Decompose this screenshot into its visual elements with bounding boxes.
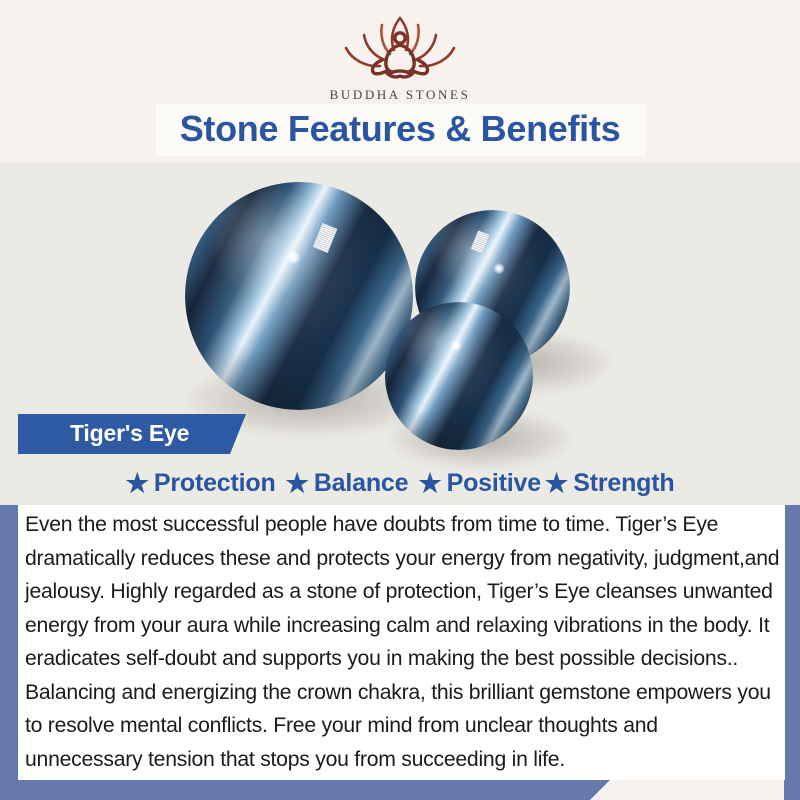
stone-specular-highlight <box>493 263 505 274</box>
benefit-label: Protection <box>154 469 276 498</box>
stone-name-banner: Tiger's Eye <box>18 414 246 454</box>
brand-logo: BUDDHA STONES <box>0 8 800 103</box>
benefit-label: Strength <box>573 469 674 498</box>
star-icon: ★ <box>545 470 568 496</box>
benefit-item-positive: ★ Positive <box>418 469 541 498</box>
lotus-meditation-icon <box>320 8 480 86</box>
star-icon: ★ <box>418 470 441 496</box>
benefit-item-strength: ★ Strength <box>545 469 674 498</box>
stone-sphere-large <box>185 182 413 410</box>
stone-sphere-small <box>385 302 533 450</box>
brand-name: BUDDHA STONES <box>0 87 800 103</box>
star-icon: ★ <box>126 470 149 496</box>
stone-name-label: Tiger's Eye <box>70 414 189 454</box>
description-text: Even the most successful people have dou… <box>25 508 780 776</box>
stone-edge-shading <box>385 302 533 450</box>
frame-bottom-bar <box>0 780 610 800</box>
stone-edge-shading <box>185 182 413 410</box>
benefit-label: Balance <box>314 469 409 498</box>
benefit-item-protection: ★ Protection <box>126 469 276 498</box>
star-icon: ★ <box>286 470 309 496</box>
benefit-label: Positive <box>447 469 541 498</box>
page-title: Stone Features & Benefits <box>0 104 800 156</box>
benefits-row: ★ Protection ★ Balance ★ Positive ★ Stre… <box>0 462 800 504</box>
poster-root: BUDDHA STONES Stone Features & Benefits <box>0 0 800 800</box>
benefit-item-balance: ★ Balance <box>286 469 409 498</box>
